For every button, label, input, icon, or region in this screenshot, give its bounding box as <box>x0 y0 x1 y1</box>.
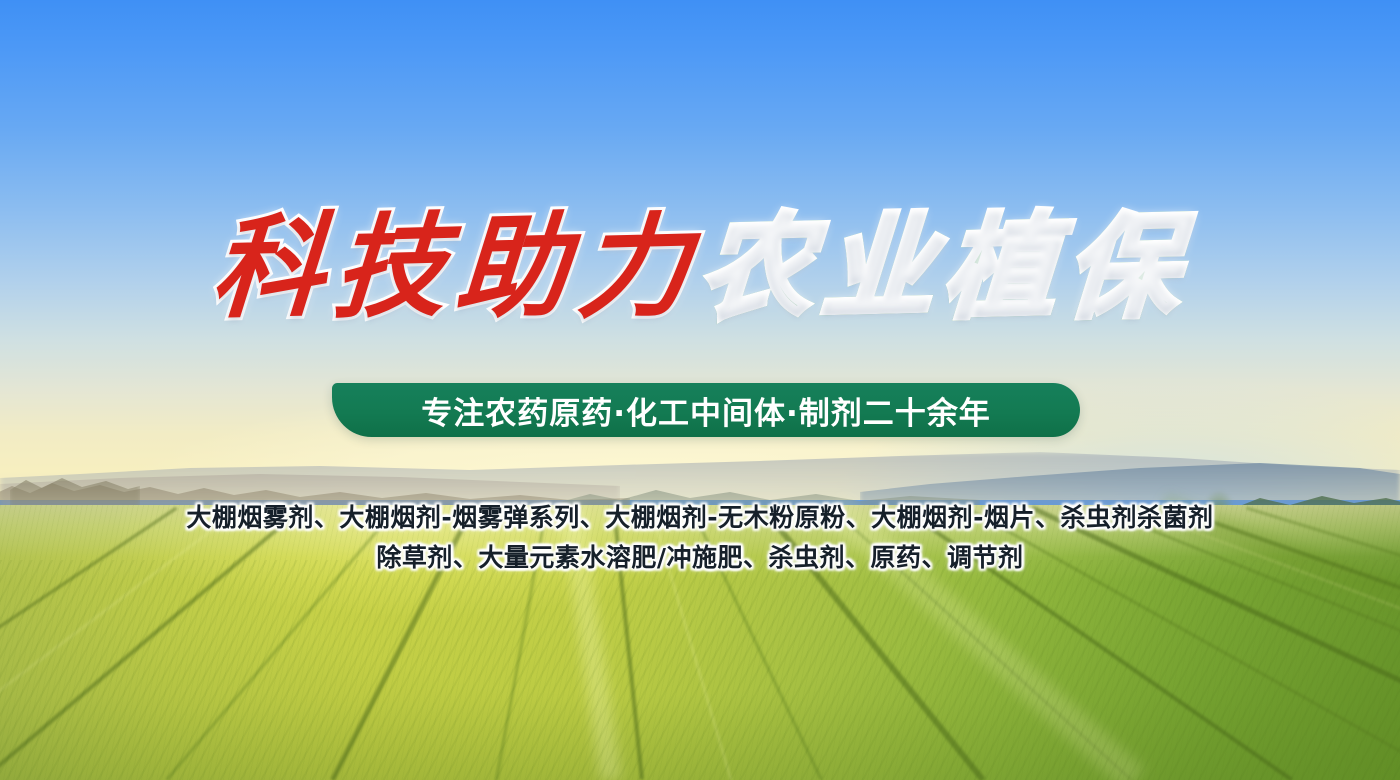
product-line-1: 大棚烟雾剂、大棚烟剂-烟雾弹系列、大棚烟剂-无木粉原粉、大棚烟剂-烟片、杀虫剂杀… <box>0 498 1400 538</box>
title-char-zhi: 植 <box>940 211 1069 326</box>
title-char-ke: 科 <box>208 211 337 326</box>
title-char-bao: 保 <box>1062 211 1191 326</box>
title-char-ji: 技 <box>330 211 459 326</box>
product-line-2: 除草剂、大量元素水溶肥/冲施肥、杀虫剂、原药、调节剂 <box>0 538 1400 578</box>
subtitle-text: 专注农药原药·化工中间体·制剂二十余年 <box>332 383 1080 437</box>
title-char-ye: 业 <box>818 211 947 326</box>
page-title: 科技助力农业植保 <box>0 212 1400 324</box>
title-char-li: 力 <box>574 211 703 326</box>
product-list: 大棚烟雾剂、大棚烟剂-烟雾弹系列、大棚烟剂-无木粉原粉、大棚烟剂-烟片、杀虫剂杀… <box>0 498 1400 578</box>
title-char-zhu: 助 <box>452 211 581 326</box>
hero-banner: 科技助力农业植保 专注农药原药·化工中间体·制剂二十余年 大棚烟雾剂、大棚烟剂-… <box>0 0 1400 780</box>
title-char-nong: 农 <box>696 211 825 326</box>
